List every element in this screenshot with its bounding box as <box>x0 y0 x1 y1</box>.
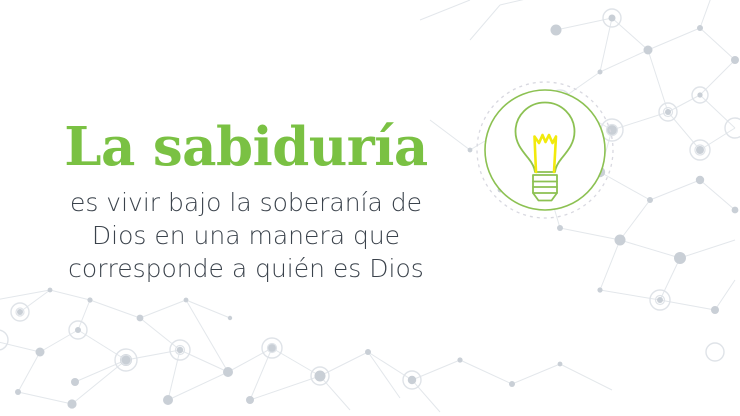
subtitle-line-2: Dios en una manera que <box>0 219 492 252</box>
slide-canvas: La sabiduría es vivir bajo la soberanía … <box>0 0 740 416</box>
subtitle-text: es vivir bajo la soberanía de Dios en un… <box>0 186 492 285</box>
subtitle-line-1: es vivir bajo la soberanía de <box>0 186 492 219</box>
emblem-ring-icon <box>485 90 605 210</box>
subtitle-line-3: corresponde a quién es Dios <box>0 252 492 285</box>
page-title: La sabiduría <box>0 118 492 176</box>
headline-block: La sabiduría es vivir bajo la soberanía … <box>0 118 492 285</box>
lightbulb-emblem <box>470 75 620 225</box>
